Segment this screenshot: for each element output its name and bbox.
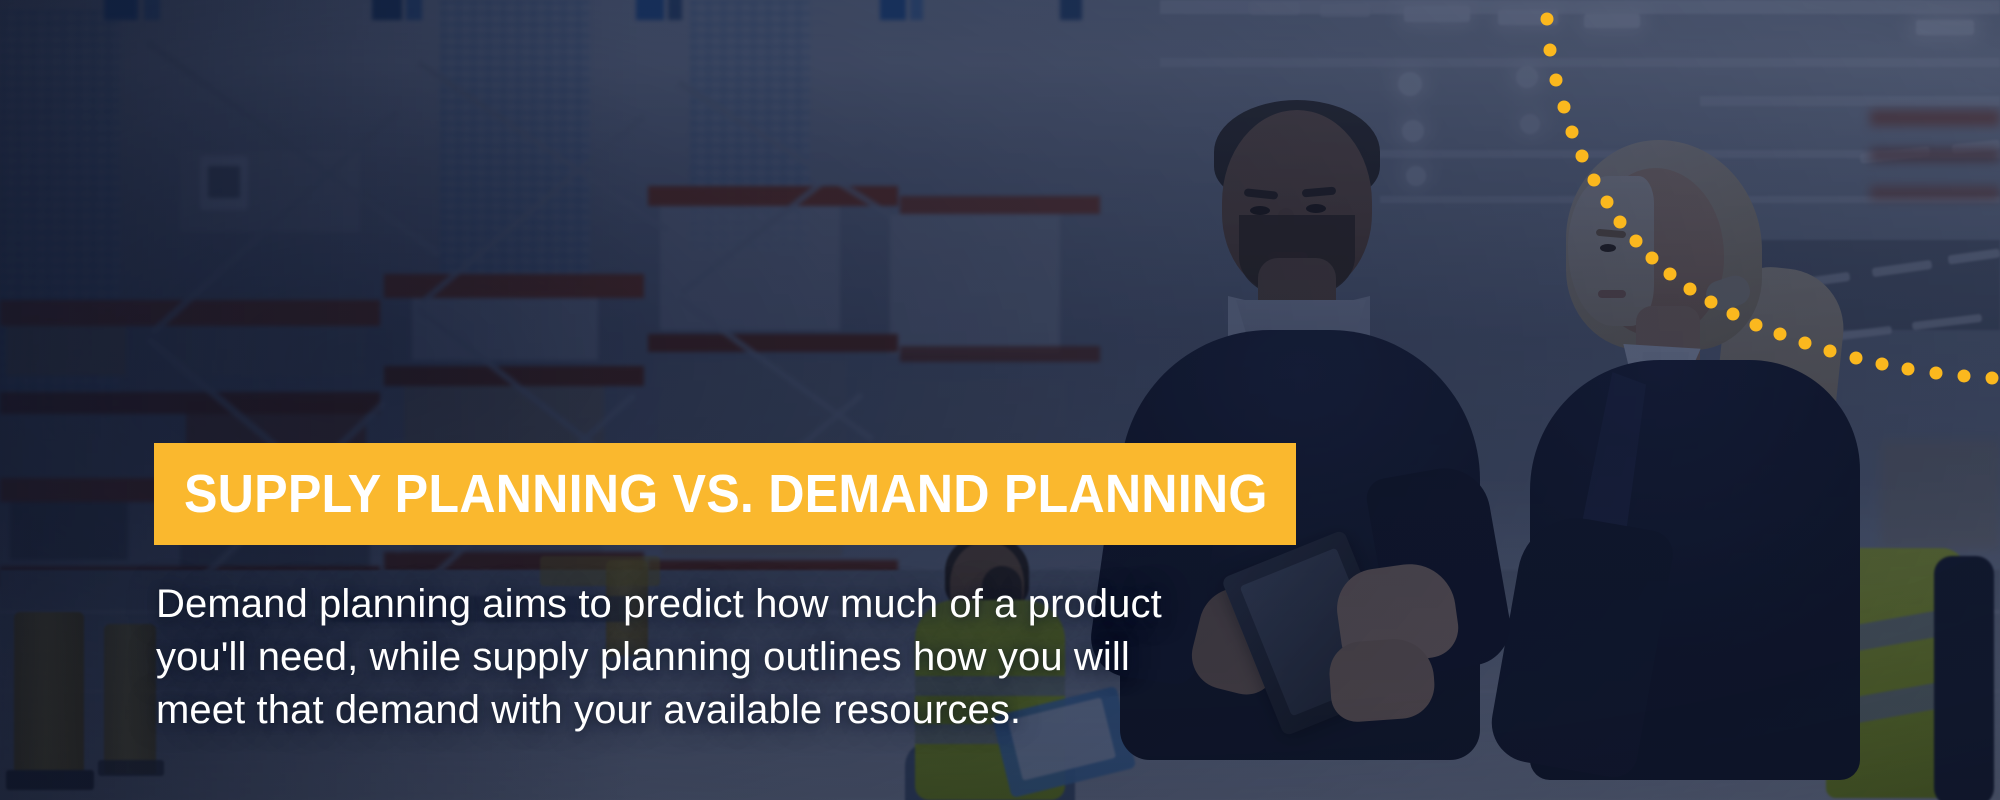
subtitle-line-2: you'll need, while supply planning outli… xyxy=(156,631,1162,684)
subtitle-line-1: Demand planning aims to predict how much… xyxy=(156,578,1162,631)
title-band: SUPPLY PLANNING VS. DEMAND PLANNING xyxy=(154,443,1296,545)
page-title: SUPPLY PLANNING VS. DEMAND PLANNING xyxy=(184,463,1268,525)
subtitle: Demand planning aims to predict how much… xyxy=(156,578,1162,738)
subtitle-line-3: meet that demand with your available res… xyxy=(156,684,1162,737)
hero-banner: SUPPLY PLANNING VS. DEMAND PLANNING Dema… xyxy=(0,0,2000,800)
